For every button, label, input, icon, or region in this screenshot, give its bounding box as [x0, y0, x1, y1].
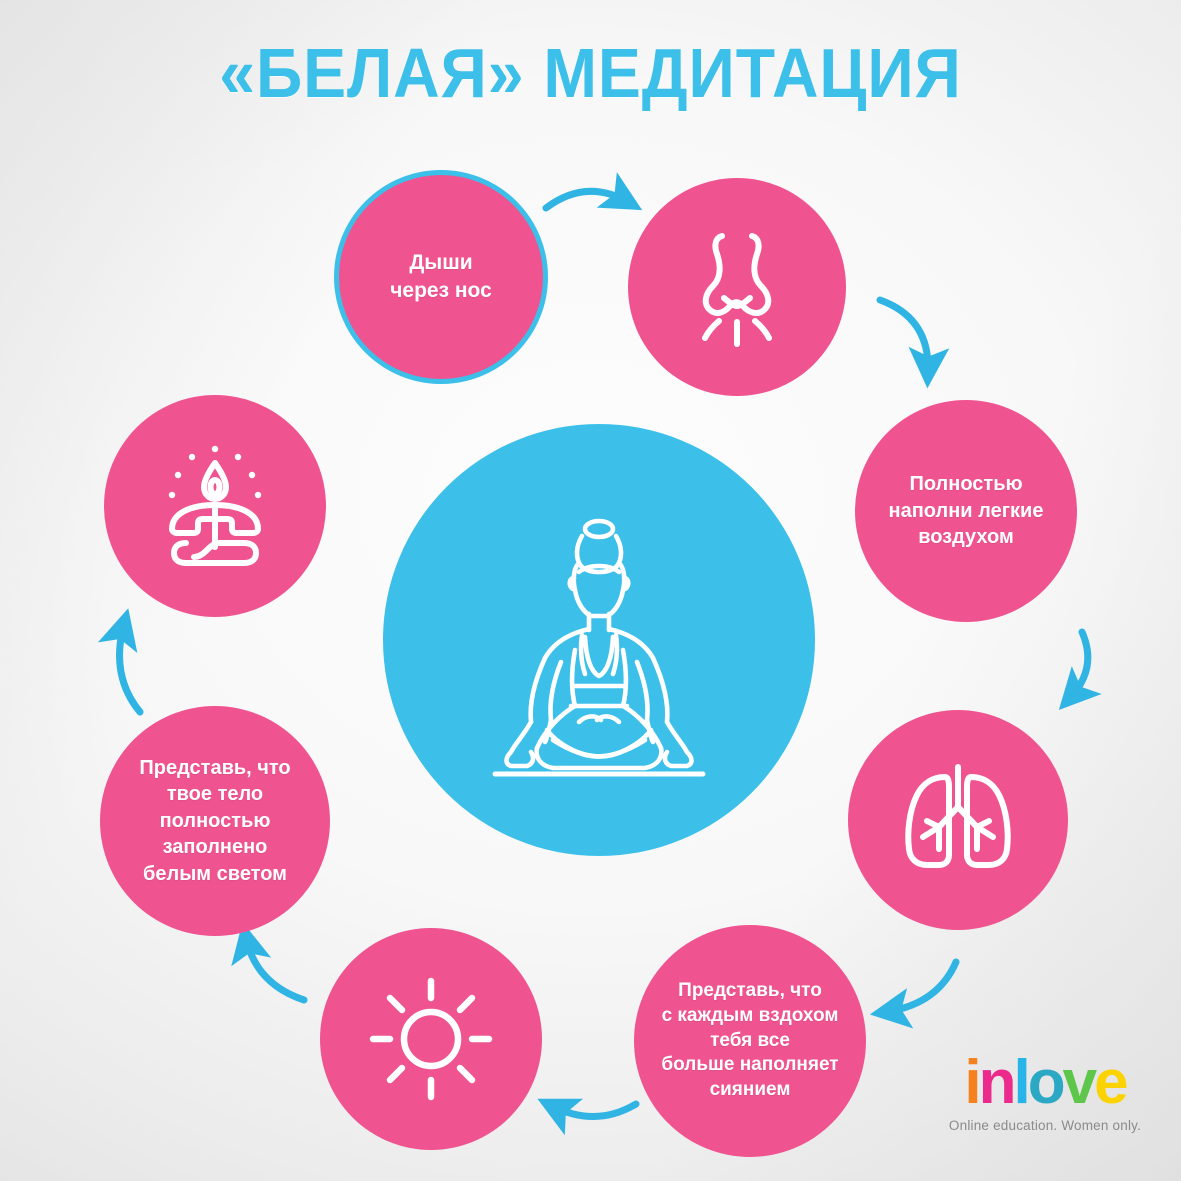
step-label: Представь, что твое тело полностью запол…	[123, 755, 306, 887]
arrow-glow-to-sun	[552, 1104, 636, 1117]
logo-letter-l: l	[1014, 1048, 1028, 1117]
logo-letter-e: e	[1094, 1048, 1125, 1117]
step-fill-lungs-with-air[interactable]: Полностью наполни легкие воздухом	[855, 400, 1077, 622]
meditating-woman-lotus-icon	[449, 490, 749, 790]
step-breathe-through-nose[interactable]: Дыши через нос	[334, 170, 548, 384]
infographic-canvas: «БЕЛАЯ» МЕДИТАЦИЯ	[0, 0, 1181, 1181]
step-body-filled-with-white-light[interactable]: Представь, что твое тело полностью запол…	[100, 706, 330, 936]
step-label: Дыши через нос	[374, 249, 508, 304]
brand-logo[interactable]: inlove Online education. Women only.	[930, 1052, 1160, 1133]
step-sun-icon[interactable]	[320, 928, 542, 1150]
step-lungs-icon[interactable]	[848, 710, 1068, 930]
arrow-fill-lungs-to-lungs	[1070, 632, 1088, 698]
step-nose-icon[interactable]	[628, 178, 846, 396]
page-title: «БЕЛАЯ» МЕДИТАЦИЯ	[47, 38, 1134, 108]
arrow-nose-to-fill-lungs	[880, 300, 928, 372]
arrow-breathe-to-nose	[546, 191, 628, 208]
meditation-zen-icon	[152, 443, 278, 569]
step-label: Полностью наполни легкие воздухом	[873, 471, 1060, 550]
center-meditation-circle	[383, 424, 815, 856]
step-label: Представь, что с каждым вздохом тебя все…	[645, 979, 854, 1102]
logo-tagline: Online education. Women only.	[930, 1118, 1160, 1133]
logo-letter-o: o	[1028, 1048, 1063, 1117]
logo-letter-n: n	[979, 1048, 1014, 1117]
arrow-sun-to-white-light	[246, 938, 304, 1000]
sun-icon	[369, 977, 493, 1101]
arrow-lungs-to-glow	[886, 962, 956, 1012]
nose-icon	[681, 226, 793, 348]
logo-wordmark: inlove	[930, 1052, 1160, 1114]
lungs-icon	[895, 761, 1021, 879]
step-meditation-zen-icon[interactable]	[104, 395, 326, 617]
arrow-white-light-to-zen	[120, 624, 140, 712]
logo-letter-i: i	[964, 1048, 978, 1117]
step-filled-with-radiance[interactable]: Представь, что с каждым вздохом тебя все…	[634, 925, 866, 1157]
logo-letter-v: v	[1063, 1048, 1094, 1117]
